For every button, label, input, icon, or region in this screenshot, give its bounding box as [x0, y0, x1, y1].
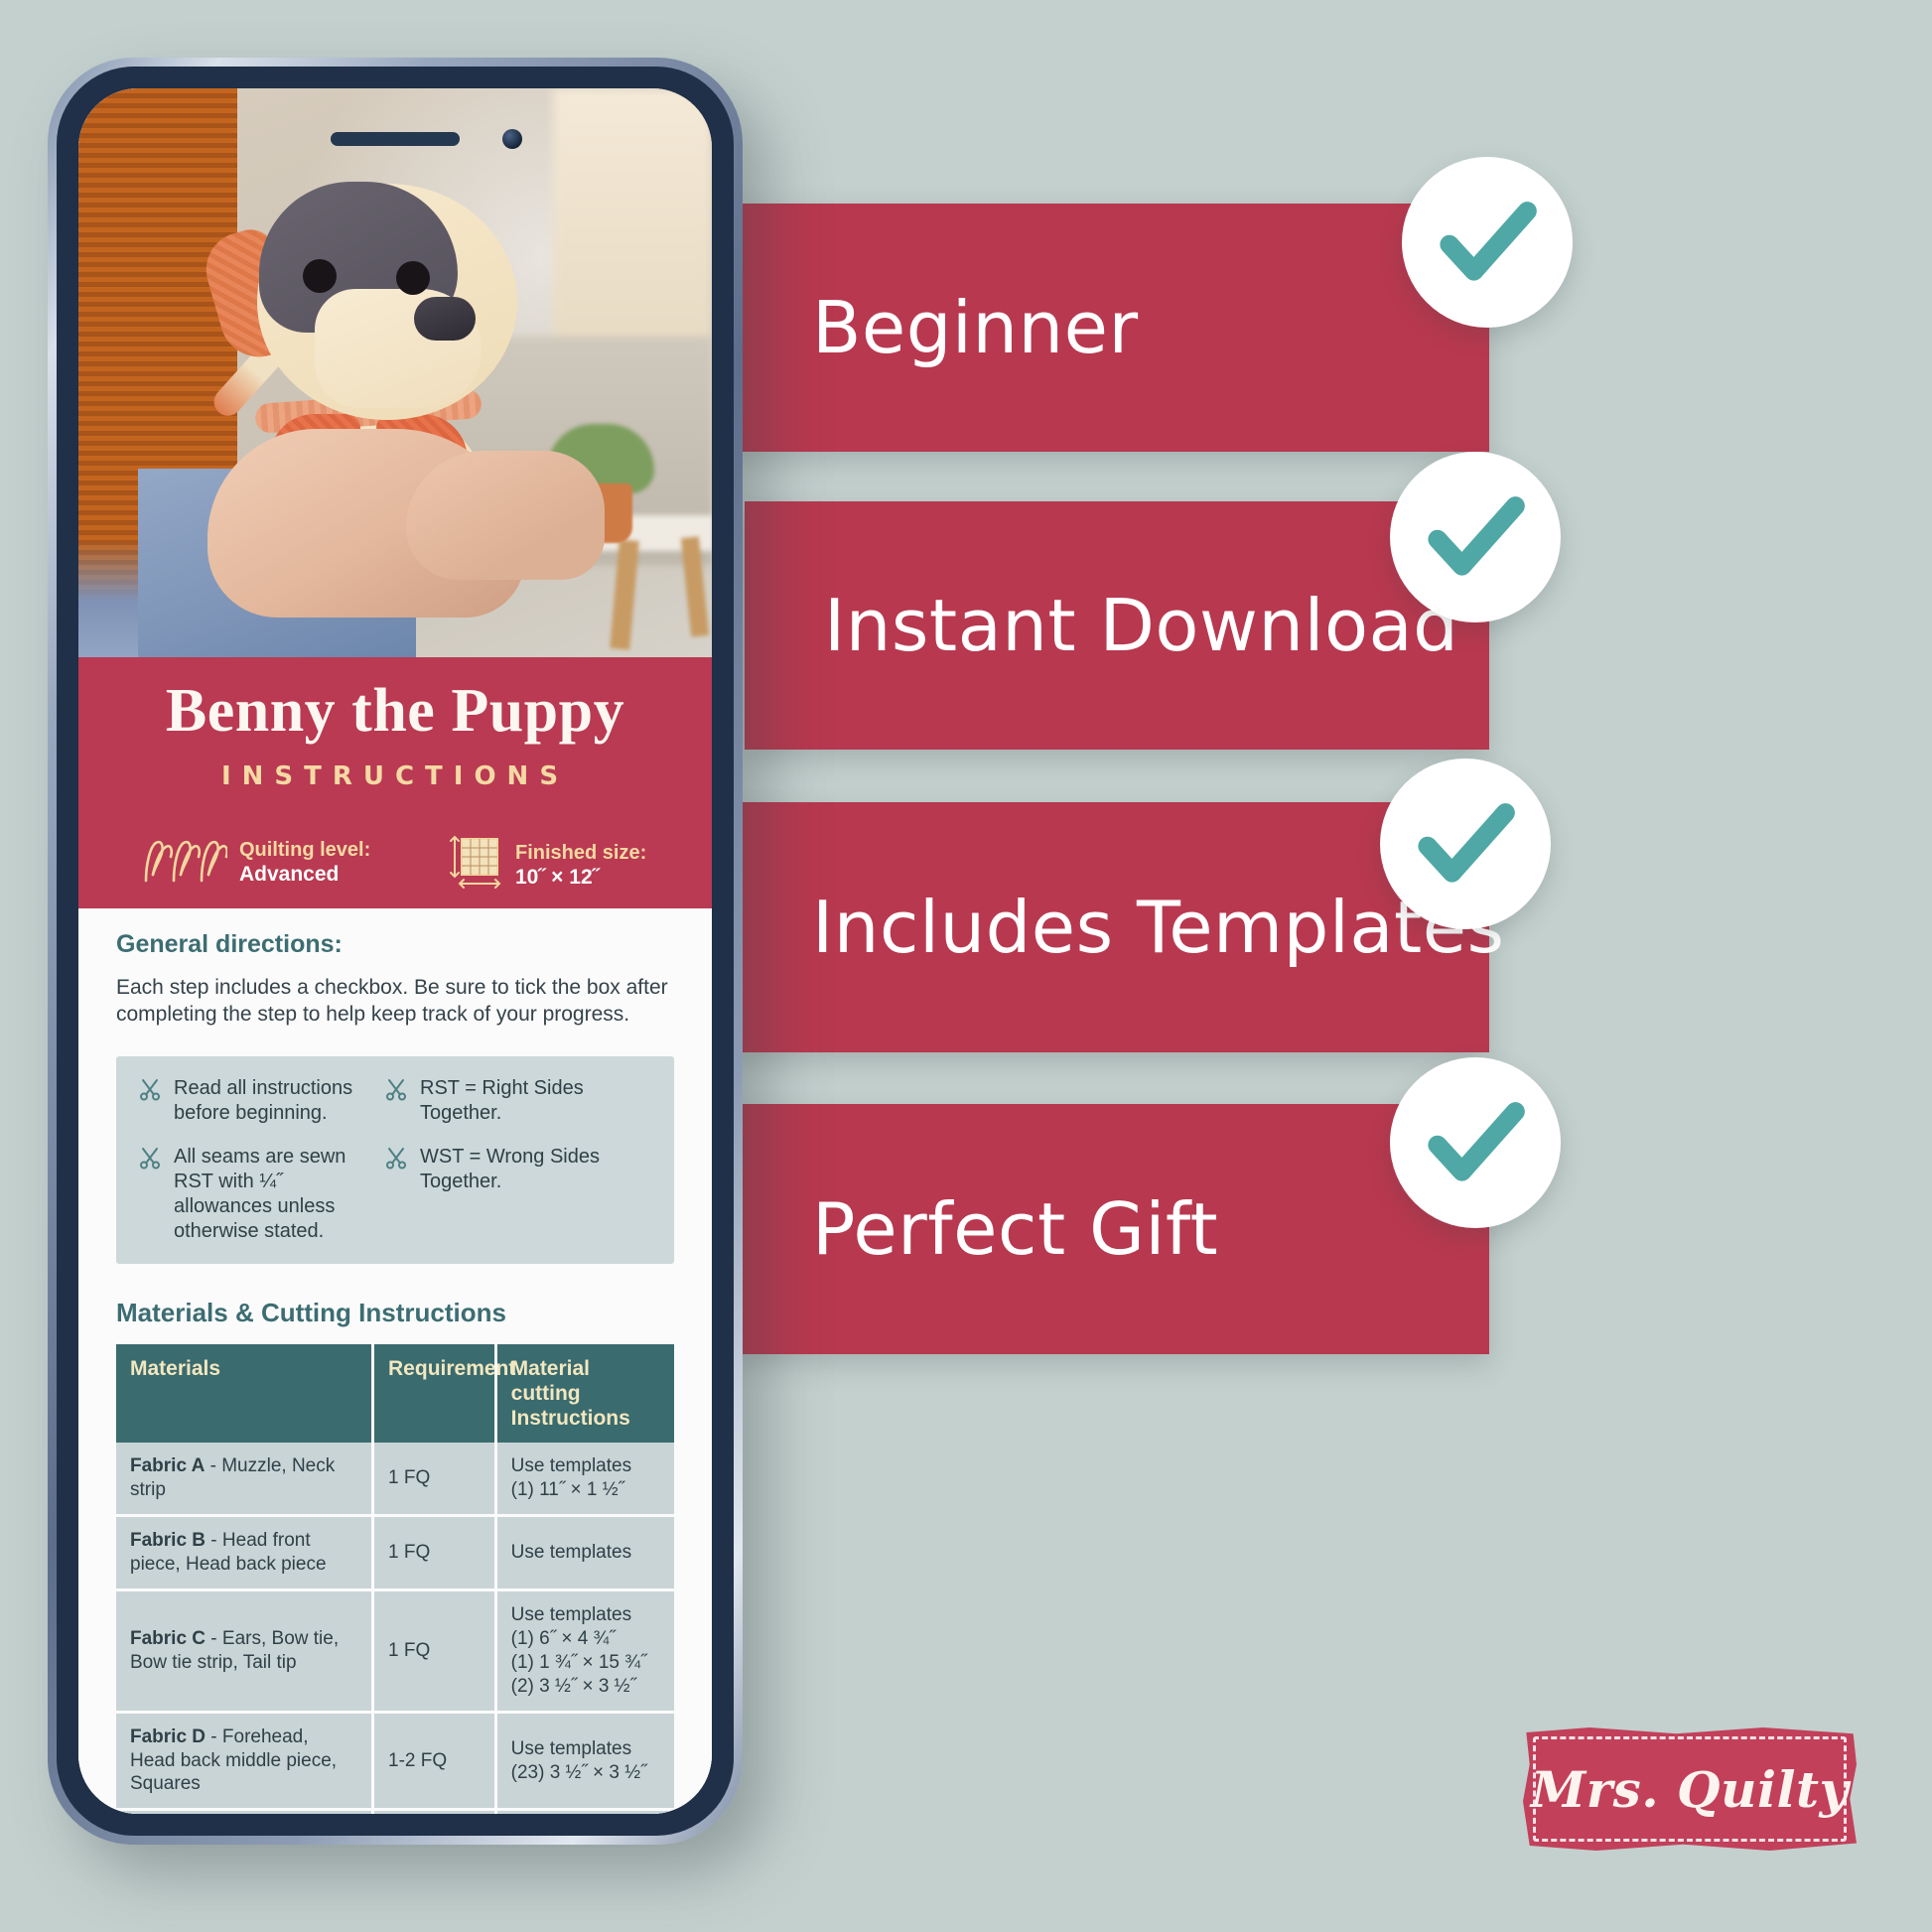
quilting-level-label: Quilting level: [239, 838, 370, 862]
tip-item: RST = Right Sides Together. [384, 1076, 652, 1126]
page-subtitle: INSTRUCTIONS [78, 761, 712, 791]
feature-label: Beginner [733, 286, 1139, 369]
col-header-requirement: Requirement [373, 1344, 496, 1444]
tip-text: RST = Right Sides Together. [420, 1076, 652, 1126]
col-header-cutting: Material cutting Instructions [495, 1344, 674, 1444]
cell-requirement: 1 FQ [373, 1443, 496, 1515]
quilting-level-meta: Quilting level: Advanced [140, 835, 370, 890]
col-header-cutting-line2: cutting Instructions [511, 1382, 630, 1430]
tip-item: All seams are sewn RST with ¼˝ allowance… [138, 1145, 372, 1243]
feature-banner-perfect-gift: Perfect Gift [733, 1104, 1489, 1354]
earpiece-speaker-icon [331, 132, 460, 146]
col-header-cutting-line1: Material [511, 1357, 590, 1380]
check-badge-perfect-gift [1390, 1057, 1561, 1228]
quilting-level-value: Advanced [239, 862, 370, 888]
pdf-page: Benny the Puppy INSTRUCTIONS [78, 88, 712, 1814]
cell-requirement: 1 FQ [373, 1589, 496, 1712]
cell-requirement: 1-2 FQ [373, 1712, 496, 1810]
check-icon [1420, 1087, 1531, 1198]
tip-text: Read all instructions before beginning. [174, 1076, 372, 1126]
second-hand [406, 451, 605, 580]
page-title: Benny the Puppy [78, 676, 712, 747]
check-badge-beginner [1402, 157, 1573, 328]
tips-box: Read all instructions before beginning. [116, 1056, 674, 1264]
finished-size-label: Finished size: [515, 841, 646, 865]
materials-heading: Materials & Cutting Instructions [116, 1298, 674, 1328]
feature-banner-includes-templates: Includes Templates [733, 802, 1489, 1052]
materials-table-body: Fabric A - Muzzle, Neck strip1 FQUse tem… [116, 1443, 674, 1814]
table-row: Fabric C - Ears, Bow tie, Bow tie strip,… [116, 1589, 674, 1712]
tips-column-left: Read all instructions before beginning. [138, 1076, 372, 1244]
finished-size-meta: Finished size: 10˝ × 12˝ [448, 835, 646, 896]
pattern-cover: Benny the Puppy INSTRUCTIONS [78, 88, 712, 908]
general-directions-text: Each step includes a checkbox. Be sure t… [116, 975, 674, 1029]
cell-requirement: 1 FQ [373, 1515, 496, 1589]
cover-photo [78, 88, 712, 657]
phone-screen: Benny the Puppy INSTRUCTIONS [78, 88, 712, 1814]
check-icon [1432, 187, 1543, 298]
puppy-nose [414, 297, 476, 341]
tip-text: All seams are sewn RST with ¼˝ allowance… [174, 1145, 372, 1243]
feature-label: Perfect Gift [733, 1187, 1218, 1271]
brand-logo-text: Mrs. Quilty [1531, 1760, 1849, 1819]
scissors-icon [138, 1078, 162, 1107]
check-badge-includes-templates [1380, 759, 1551, 929]
general-directions-heading: General directions: [116, 930, 674, 959]
table-row: Fabric D - Forehead, Head back middle pi… [116, 1712, 674, 1810]
cell-material: Fabric E - Squares [116, 1810, 373, 1814]
feature-banner-instant-download: Instant Download [745, 501, 1489, 750]
tip-item: WST = Wrong Sides Together. [384, 1145, 652, 1194]
puppy-right-eye [396, 261, 430, 295]
promo-graphic: Beginner Instant Download Includes Templ… [0, 0, 1932, 1932]
feature-label: Includes Templates [733, 886, 1505, 969]
phone-bezel: Benny the Puppy INSTRUCTIONS [57, 67, 734, 1836]
phone-mockup: Benny the Puppy INSTRUCTIONS [48, 58, 743, 1845]
tip-text: WST = Wrong Sides Together. [420, 1145, 652, 1194]
tips-column-right: RST = Right Sides Together. [384, 1076, 652, 1244]
brand-logo: Mrs. Quilty [1523, 1727, 1857, 1851]
table-row: Fabric E - Squares1 FQ(23) 3 ½˝ × 3 ½˝ [116, 1810, 674, 1814]
front-camera-icon [502, 129, 522, 149]
scissors-icon [384, 1078, 408, 1107]
cell-cutting: (23) 3 ½˝ × 3 ½˝ [495, 1810, 674, 1814]
table-row: Fabric B - Head front piece, Head back p… [116, 1515, 674, 1589]
instructions-body: General directions: Each step includes a… [78, 908, 712, 1814]
feature-label: Instant Download [745, 584, 1458, 667]
needle-thread-icon [140, 835, 227, 890]
puppy-left-eye [303, 259, 337, 293]
measure-grid-icon [448, 835, 503, 896]
cell-cutting: Use templates(1) 11˝ × 1 ½˝ [495, 1443, 674, 1515]
cell-requirement: 1 FQ [373, 1810, 496, 1814]
cell-cutting: Use templates(23) 3 ½˝ × 3 ½˝ [495, 1712, 674, 1810]
feature-banner-beginner: Beginner [733, 204, 1489, 452]
check-icon [1410, 788, 1521, 899]
materials-table: Materials Requirement Material cutting I… [116, 1344, 674, 1814]
cell-material: Fabric D - Forehead, Head back middle pi… [116, 1712, 373, 1810]
table-header-row: Materials Requirement Material cutting I… [116, 1344, 674, 1444]
cell-material: Fabric A - Muzzle, Neck strip [116, 1443, 373, 1515]
check-badge-instant-download [1390, 452, 1561, 622]
table-row: Fabric A - Muzzle, Neck strip1 FQUse tem… [116, 1443, 674, 1515]
cell-cutting: Use templates(1) 6˝ × 4 ¾˝(1) 1 ¾˝ × 15 … [495, 1589, 674, 1712]
cell-material: Fabric B - Head front piece, Head back p… [116, 1515, 373, 1589]
tip-item: Read all instructions before beginning. [138, 1076, 372, 1126]
check-icon [1420, 482, 1531, 593]
scissors-icon [384, 1147, 408, 1175]
scissors-icon [138, 1147, 162, 1175]
cell-cutting: Use templates [495, 1515, 674, 1589]
cell-material: Fabric C - Ears, Bow tie, Bow tie strip,… [116, 1589, 373, 1712]
cover-meta-row: Quilting level: Advanced [78, 835, 712, 904]
finished-size-value: 10˝ × 12˝ [515, 865, 646, 891]
col-header-materials: Materials [116, 1344, 373, 1444]
